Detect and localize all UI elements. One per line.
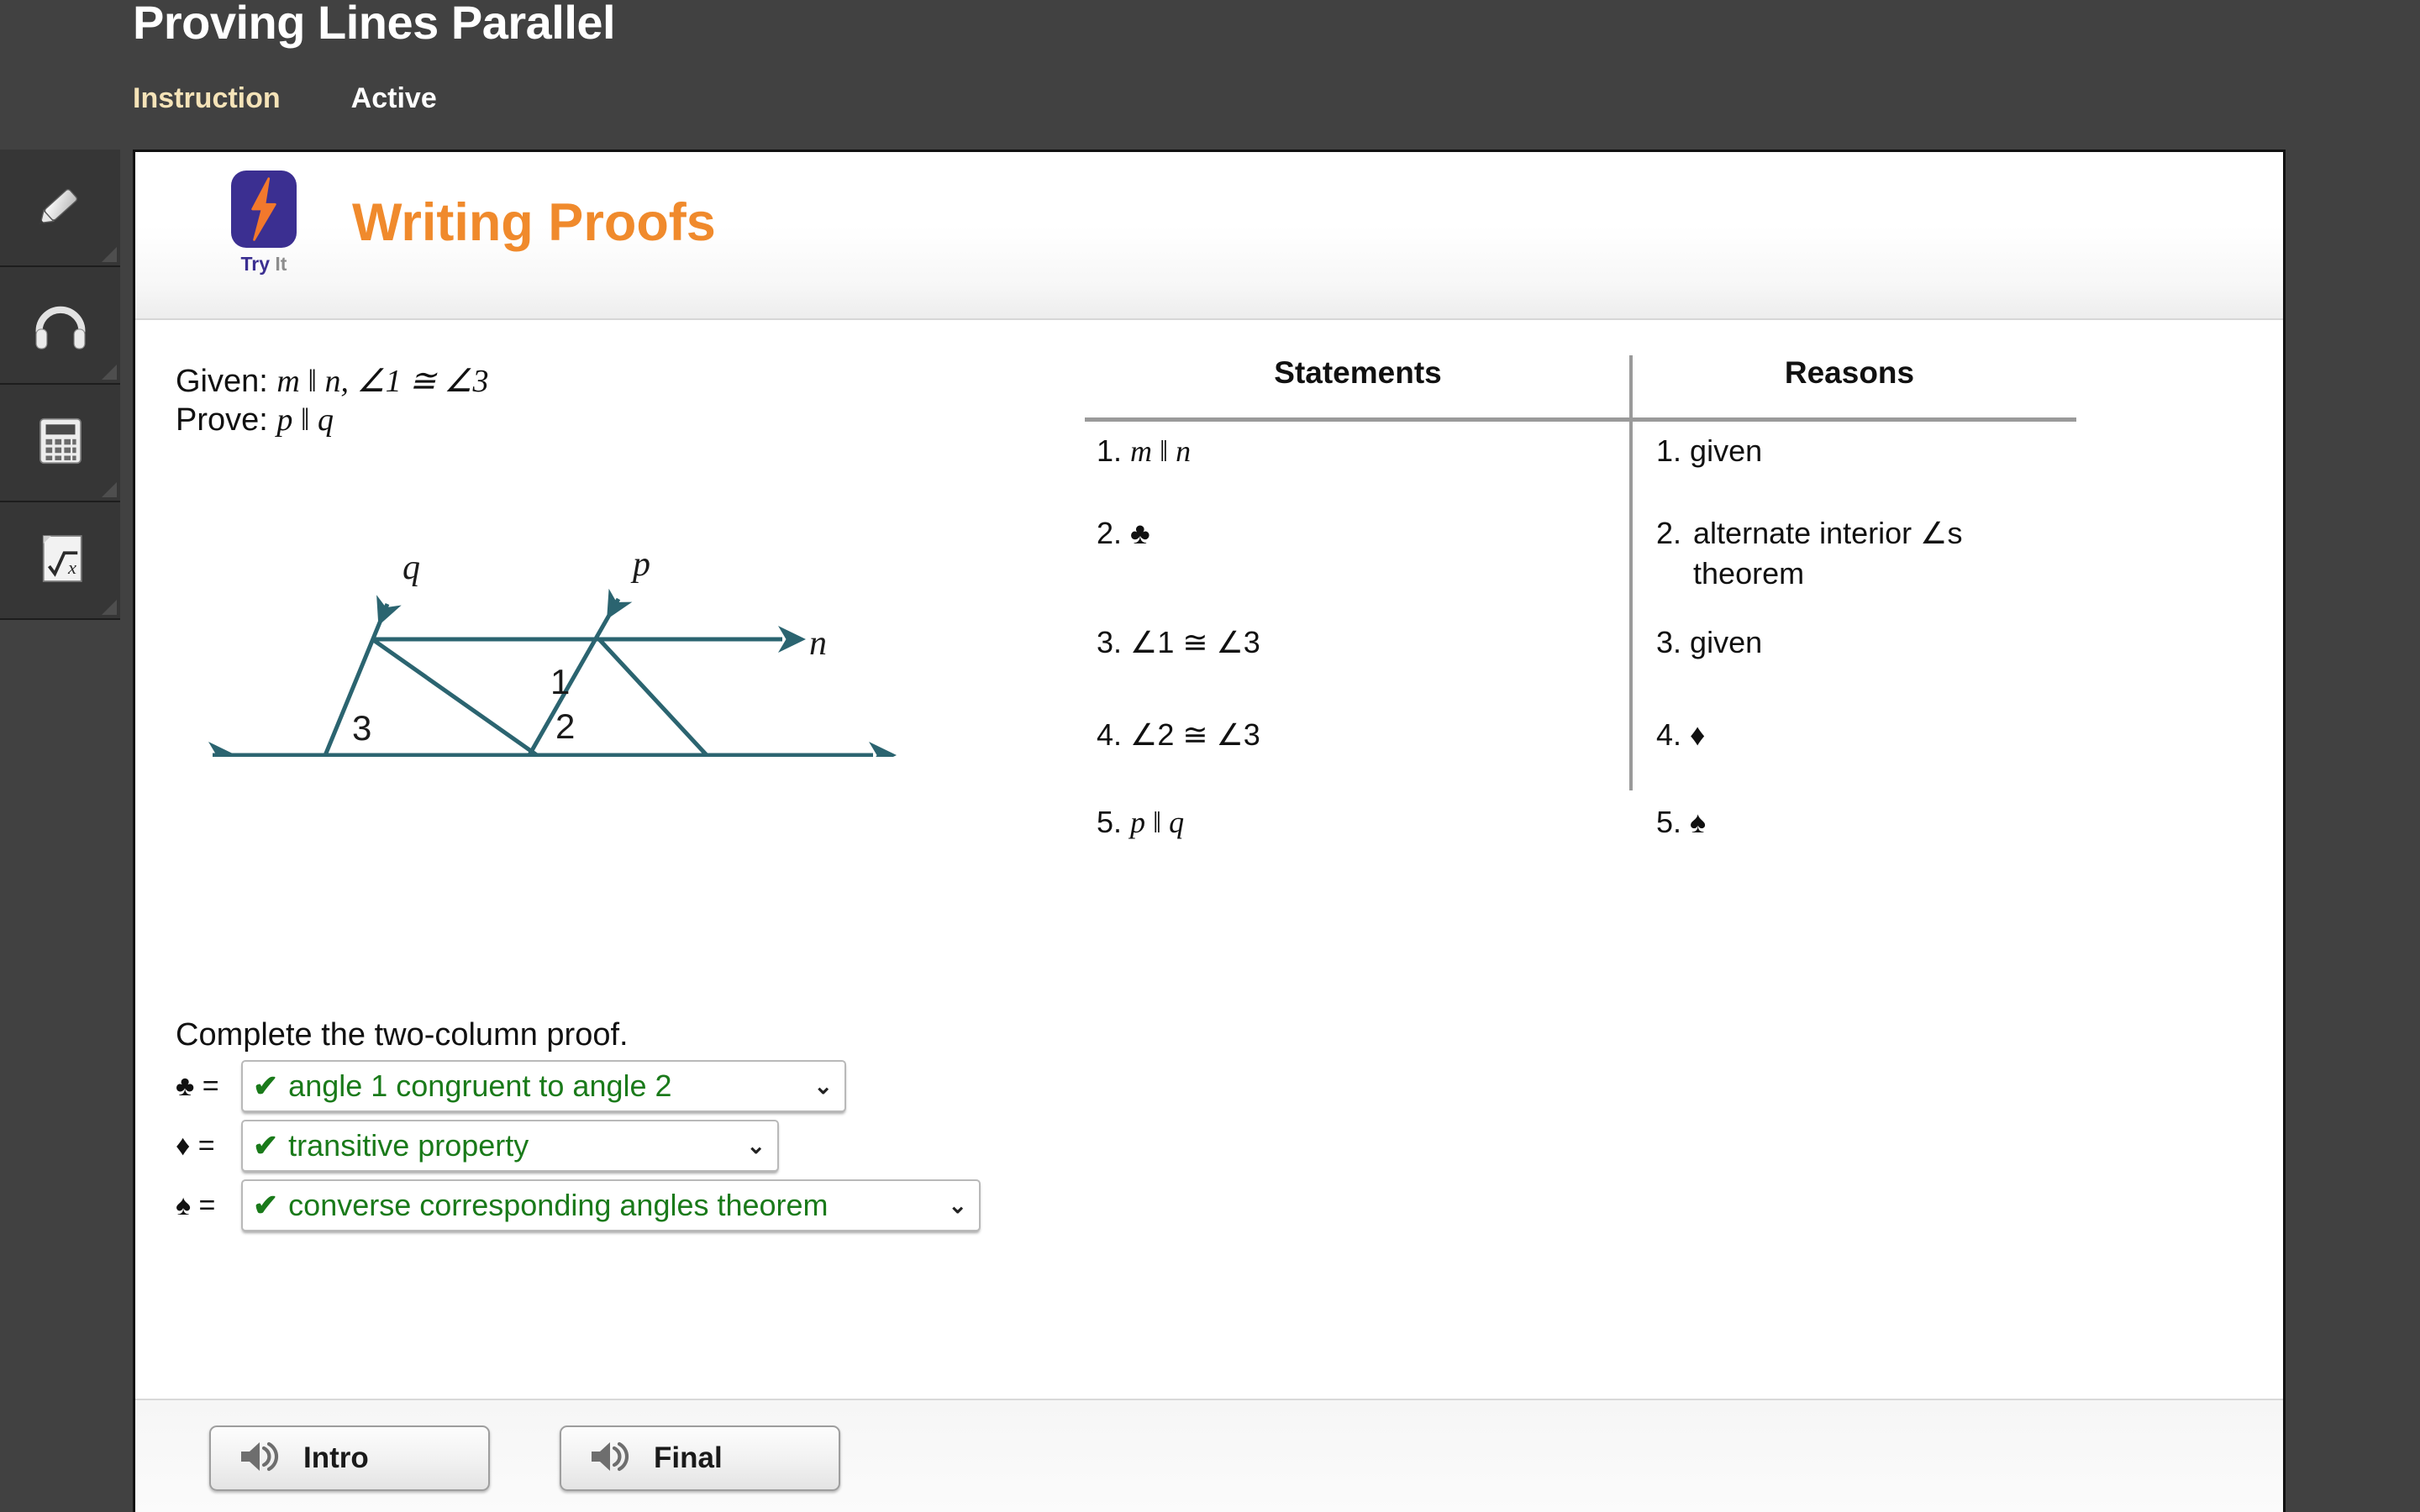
proof-reason-cell: 5. ♠ <box>1656 802 2068 843</box>
proof-reason-number: 5. <box>1656 802 1681 843</box>
answers-prompt: Complete the two-column proof. <box>176 1017 981 1053</box>
geometry-figure: q p n m 1 2 3 <box>160 471 950 761</box>
prove-value: p ‖ q <box>276 402 334 438</box>
audio-tool-button[interactable] <box>0 267 120 385</box>
line-q-path <box>310 604 387 757</box>
proof-reason-text: alternate interior ∠s theorem <box>1693 513 2068 593</box>
figure-angle-3: 3 <box>352 708 371 748</box>
proof-reason-cell: 3. given <box>1656 622 2068 663</box>
figure-label-n: n <box>809 624 827 663</box>
panel-body: Given: m ‖ n, ∠1 ≅ ∠3 Prove: p ‖ q <box>135 320 2283 1399</box>
proof-row: 2. ♣ 2. alternate interior ∠s theorem <box>1085 513 2093 622</box>
proof-statement-number: 1. <box>1097 431 1122 471</box>
panel-header: Try It Writing Proofs <box>135 152 2283 320</box>
figure-label-p: p <box>630 545 650 584</box>
pencil-icon <box>29 175 92 241</box>
lightning-bolt-icon <box>231 171 297 248</box>
proof-reason-text: ♦ <box>1690 717 1705 752</box>
proof-statement-number: 5. <box>1097 802 1122 843</box>
dropdown-club-value: angle 1 congruent to angle 2 <box>288 1068 798 1104</box>
proof-reason-number: 2. <box>1656 513 1693 593</box>
figure-label-m: m <box>900 753 925 757</box>
proof-reason-number: 3. <box>1656 622 1681 663</box>
proof-statement-cell: 5. p ‖ q <box>1097 802 1601 843</box>
dropdown-spade-value: converse corresponding angles theorem <box>288 1188 933 1223</box>
calculator-tool-button[interactable] <box>0 385 120 502</box>
checkmark-icon: ✔ <box>253 1128 278 1163</box>
speaker-icon <box>588 1437 632 1480</box>
diamond-suit-label: ♦ = <box>176 1130 241 1163</box>
tool-rail: x <box>0 150 120 620</box>
column-header-reasons: Reasons <box>1631 355 2068 391</box>
proof-rows: 1. m ‖ n 1. given 2. ♣ 2. alter <box>1085 431 2093 886</box>
figure-angle-2: 2 <box>555 706 575 746</box>
final-audio-button[interactable]: Final <box>560 1425 840 1491</box>
tool-corner-indicator <box>102 365 117 380</box>
proof-statement-text: m ‖ n <box>1130 434 1191 468</box>
proof-statement-cell: 3. ∠1 ≅ ∠3 <box>1097 622 1601 663</box>
panel-footer: Intro Final <box>135 1399 2283 1512</box>
svg-text:x: x <box>67 557 76 578</box>
prove-line: Prove: p ‖ q <box>176 401 488 439</box>
proof-statement-text: p ‖ q <box>1130 806 1184 839</box>
app-header: Proving Lines Parallel Instruction Activ… <box>0 0 2420 150</box>
tool-corner-indicator <box>102 482 117 497</box>
dropdown-diamond[interactable]: ✔ transitive property ⌄ <box>241 1120 779 1172</box>
proof-table: Statements Reasons 1. m ‖ n 1. given <box>1085 355 2093 417</box>
tab-active[interactable]: Active <box>351 82 437 115</box>
try-it-word-try: Try <box>241 253 271 275</box>
headphones-icon <box>29 292 92 359</box>
chevron-down-icon: ⌄ <box>746 1133 765 1159</box>
intro-audio-button[interactable]: Intro <box>209 1425 490 1491</box>
highlighter-tool-button[interactable] <box>0 150 120 267</box>
proof-reason-cell: 4. ♦ <box>1656 715 2068 755</box>
proof-statement-cell: 1. m ‖ n <box>1097 431 1601 472</box>
dropdown-spade[interactable]: ✔ converse corresponding angles theorem … <box>241 1179 981 1231</box>
tab-strip: Instruction Active <box>133 82 437 115</box>
panel-title: Writing Proofs <box>352 192 716 253</box>
tab-instruction[interactable]: Instruction <box>133 82 281 115</box>
final-audio-label: Final <box>654 1441 723 1475</box>
dropdown-club[interactable]: ✔ angle 1 congruent to angle 2 ⌄ <box>241 1060 846 1112</box>
given-value: m ‖ n, ∠1 ≅ ∠3 <box>276 364 488 399</box>
prove-label: Prove: <box>176 402 268 438</box>
checkmark-icon: ✔ <box>253 1068 278 1104</box>
proof-reason-text: ♠ <box>1690 805 1706 839</box>
proof-statement-cell: 4. ∠2 ≅ ∠3 <box>1097 715 1601 755</box>
given-prove-block: Given: m ‖ n, ∠1 ≅ ∠3 Prove: p ‖ q <box>176 362 488 440</box>
proof-row: 3. ∠1 ≅ ∠3 3. given <box>1085 622 2093 715</box>
proof-reason-number: 1. <box>1656 431 1681 471</box>
proof-reason-cell: 1. given <box>1656 431 2068 471</box>
try-it-word-it: It <box>275 253 287 275</box>
proof-row: 5. p ‖ q 5. ♠ <box>1085 802 2093 886</box>
formula-sheet-tool-button[interactable]: x <box>0 502 120 620</box>
club-suit-label: ♣ = <box>176 1070 241 1103</box>
column-header-statements: Statements <box>1085 355 1631 391</box>
proof-reason-text: given <box>1690 433 1762 468</box>
tool-corner-indicator <box>102 247 117 262</box>
proof-statement-number: 3. <box>1097 622 1122 663</box>
proof-reason-text: given <box>1690 625 1762 659</box>
dropdown-diamond-value: transitive property <box>288 1128 731 1163</box>
transversal-p-path <box>599 639 707 755</box>
proof-row: 1. m ‖ n 1. given <box>1085 431 2093 513</box>
proof-statement-number: 4. <box>1097 715 1122 755</box>
answer-row-diamond: ♦ = ✔ transitive property ⌄ <box>176 1120 981 1172</box>
proof-table-header: Statements Reasons <box>1085 355 2093 417</box>
try-it-logo: Try It <box>218 171 310 276</box>
chevron-down-icon: ⌄ <box>948 1193 967 1219</box>
chevron-down-icon: ⌄ <box>813 1074 833 1100</box>
checkmark-icon: ✔ <box>253 1188 278 1223</box>
formula-sheet-icon: x <box>30 528 91 593</box>
page-title: Proving Lines Parallel <box>133 0 615 50</box>
intro-audio-label: Intro <box>303 1441 369 1475</box>
tool-corner-indicator <box>102 600 117 615</box>
proof-statement-text: ∠1 ≅ ∠3 <box>1130 625 1260 659</box>
proof-reason-number: 4. <box>1656 715 1681 755</box>
answers-section: Complete the two-column proof. ♣ = ✔ ang… <box>176 1017 981 1239</box>
proof-header-rule <box>1085 417 2076 422</box>
proof-statement-number: 2. <box>1097 513 1122 554</box>
given-line: Given: m ‖ n, ∠1 ≅ ∠3 <box>176 362 488 401</box>
spade-suit-label: ♠ = <box>176 1189 241 1222</box>
answer-row-spade: ♠ = ✔ converse corresponding angles theo… <box>176 1179 981 1231</box>
figure-angle-1: 1 <box>550 662 570 701</box>
proof-reason-cell: 2. alternate interior ∠s theorem <box>1656 513 2068 593</box>
try-it-caption: Try It <box>218 253 310 276</box>
speaker-icon <box>238 1437 281 1480</box>
figure-label-q: q <box>402 549 420 587</box>
proof-statement-text: ∠2 ≅ ∠3 <box>1130 717 1260 752</box>
answer-row-club: ♣ = ✔ angle 1 congruent to angle 2 ⌄ <box>176 1060 981 1112</box>
proof-statement-cell: 2. ♣ <box>1097 513 1601 554</box>
given-label: Given: <box>176 364 268 399</box>
proof-statement-text: ♣ <box>1130 516 1150 550</box>
content-panel: Try It Writing Proofs Given: m ‖ n, ∠1 ≅… <box>133 150 2286 1512</box>
transversal-q-path <box>372 639 537 755</box>
proof-row: 4. ∠2 ≅ ∠3 4. ♦ <box>1085 715 2093 802</box>
calculator-icon <box>31 412 90 475</box>
